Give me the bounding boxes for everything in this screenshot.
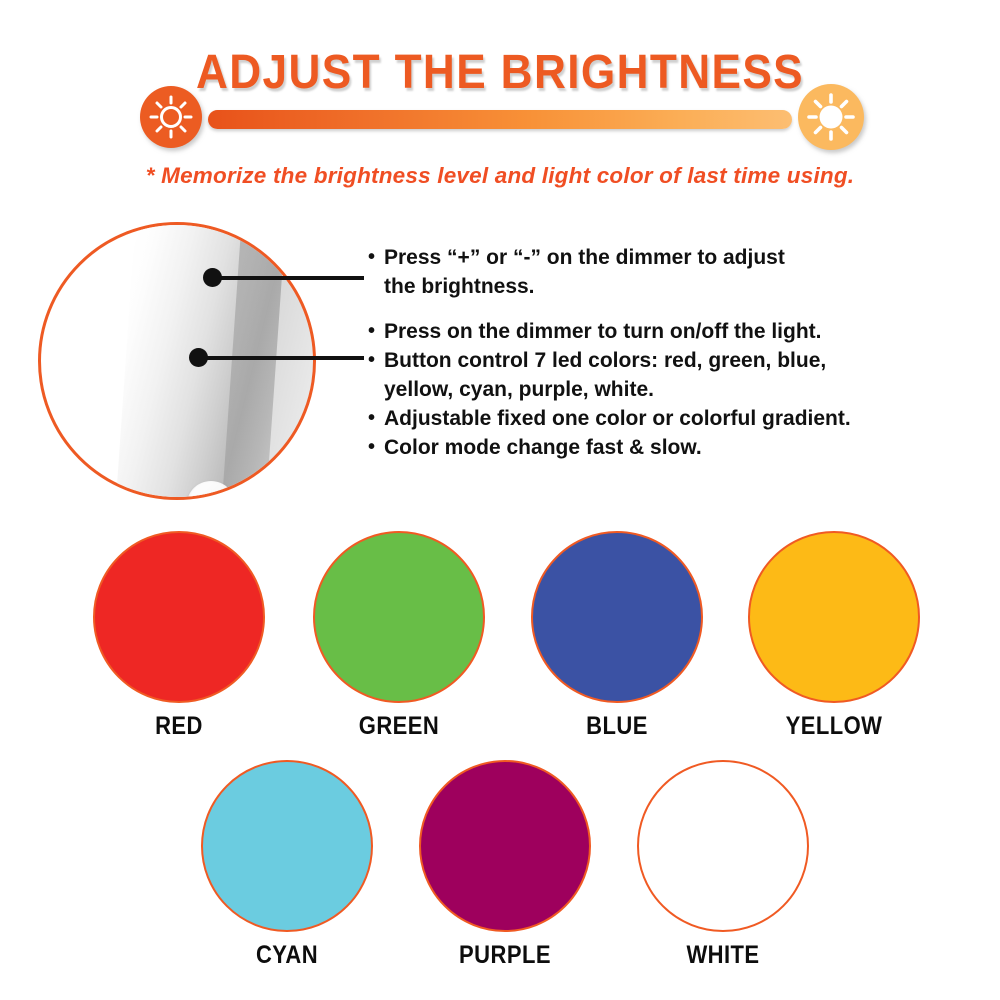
instruction-line: yellow, cyan, purple, white.: [384, 375, 978, 404]
color-disc: [531, 531, 703, 703]
color-disc: [748, 531, 920, 703]
color-disc: [313, 531, 485, 703]
color-label: YELLOW: [758, 712, 909, 741]
color-label: CYAN: [211, 941, 362, 970]
list-item: Button control 7 led colors: red, green,…: [368, 346, 978, 404]
instruction-line: Button control 7 led colors: red, green,…: [384, 346, 978, 375]
instruction-line: the brightness.: [384, 272, 978, 301]
color-swatch-purple[interactable]: PURPLE: [419, 760, 591, 970]
brightness-slider[interactable]: [208, 110, 792, 129]
list-item: Press “+” or “-” on the dimmer to adjust…: [368, 243, 978, 301]
instruction-line: Press “+” or “-” on the dimmer to adjust: [384, 243, 978, 272]
color-swatch-blue[interactable]: BLUE: [531, 531, 703, 741]
plus-button-glyph: +: [205, 493, 218, 500]
color-swatch-yellow[interactable]: YELLOW: [748, 531, 920, 741]
leader-dot-mode: [189, 348, 208, 367]
leader-dot-plus: [203, 268, 222, 287]
color-swatch-green[interactable]: GREEN: [313, 531, 485, 741]
leader-line-mode: [202, 356, 364, 360]
color-label: RED: [103, 712, 254, 741]
color-disc: [93, 531, 265, 703]
header: ADJUST THE BRIGHTNESS: [0, 0, 1000, 160]
instruction-line: Color mode change fast & slow.: [384, 433, 978, 462]
color-label: BLUE: [541, 712, 692, 741]
list-item: Color mode change fast & slow.: [368, 433, 978, 462]
color-disc: [201, 760, 373, 932]
color-label: WHITE: [647, 941, 798, 970]
remote-magnifier: + M –: [38, 222, 316, 500]
sun-high-icon: [798, 84, 864, 150]
sun-low-icon: [140, 86, 202, 148]
spacer: [368, 301, 978, 317]
instruction-list: Press “+” or “-” on the dimmer to adjust…: [368, 243, 978, 462]
list-item: Press on the dimmer to turn on/off the l…: [368, 317, 978, 346]
subtitle-note: * Memorize the brightness level and ligh…: [0, 163, 1000, 189]
leader-line-plus: [216, 276, 364, 280]
color-label: GREEN: [323, 712, 474, 741]
infographic-root: ADJUST THE BRIGHTNESS: [0, 0, 1000, 1000]
color-disc: [419, 760, 591, 932]
instruction-line: Press on the dimmer to turn on/off the l…: [384, 317, 978, 346]
color-swatch-red[interactable]: RED: [93, 531, 265, 741]
list-item: Adjustable fixed one color or colorful g…: [368, 404, 978, 433]
color-swatch-white[interactable]: WHITE: [637, 760, 809, 970]
instruction-line: Adjustable fixed one color or colorful g…: [384, 404, 978, 433]
color-disc: [637, 760, 809, 932]
color-label: PURPLE: [429, 941, 580, 970]
color-swatch-cyan[interactable]: CYAN: [201, 760, 373, 970]
